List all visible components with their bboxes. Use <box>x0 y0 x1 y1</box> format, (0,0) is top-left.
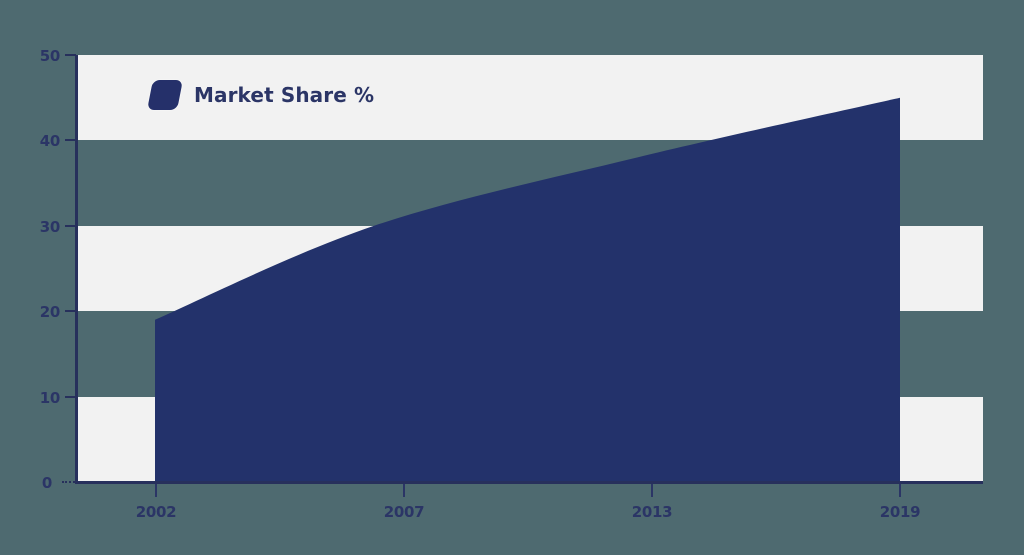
plot-area <box>77 55 983 482</box>
x-tick-label-2002: 2002 <box>121 503 191 521</box>
y-tick-mark-10 <box>65 396 76 398</box>
series-market-share <box>77 55 983 482</box>
area-path <box>155 98 900 482</box>
x-tick-mark-2019 <box>899 484 901 497</box>
y-tick-label-20: 20 <box>20 303 60 321</box>
y-tick-label-40: 40 <box>20 132 60 150</box>
y-tick-mark-50 <box>65 54 76 56</box>
y-tick-label-10: 10 <box>20 389 60 407</box>
x-tick-mark-2002 <box>155 484 157 497</box>
legend-swatch-market-share <box>147 80 183 110</box>
x-tick-mark-2007 <box>403 484 405 497</box>
y-tick-mark-20 <box>65 310 76 312</box>
legend: Market Share % <box>150 80 374 110</box>
y-tick-mark-40 <box>65 139 76 141</box>
x-axis-spine <box>75 481 983 484</box>
x-tick-label-2007: 2007 <box>369 503 439 521</box>
y-tick-label-30: 30 <box>20 218 60 236</box>
y-tick-label-50: 50 <box>20 47 60 65</box>
legend-label-market-share: Market Share % <box>194 83 374 107</box>
y-tick-label-0: 0 <box>12 474 52 492</box>
x-tick-label-2019: 2019 <box>865 503 935 521</box>
x-tick-label-2013: 2013 <box>617 503 687 521</box>
y-tick-mark-30 <box>65 225 76 227</box>
y-axis-spine <box>75 55 78 484</box>
y-tick-mark-0 <box>62 481 75 485</box>
area-chart: 50 40 30 20 10 0 2002 2007 2013 2019 Mar… <box>0 0 1024 555</box>
x-tick-mark-2013 <box>651 484 653 497</box>
